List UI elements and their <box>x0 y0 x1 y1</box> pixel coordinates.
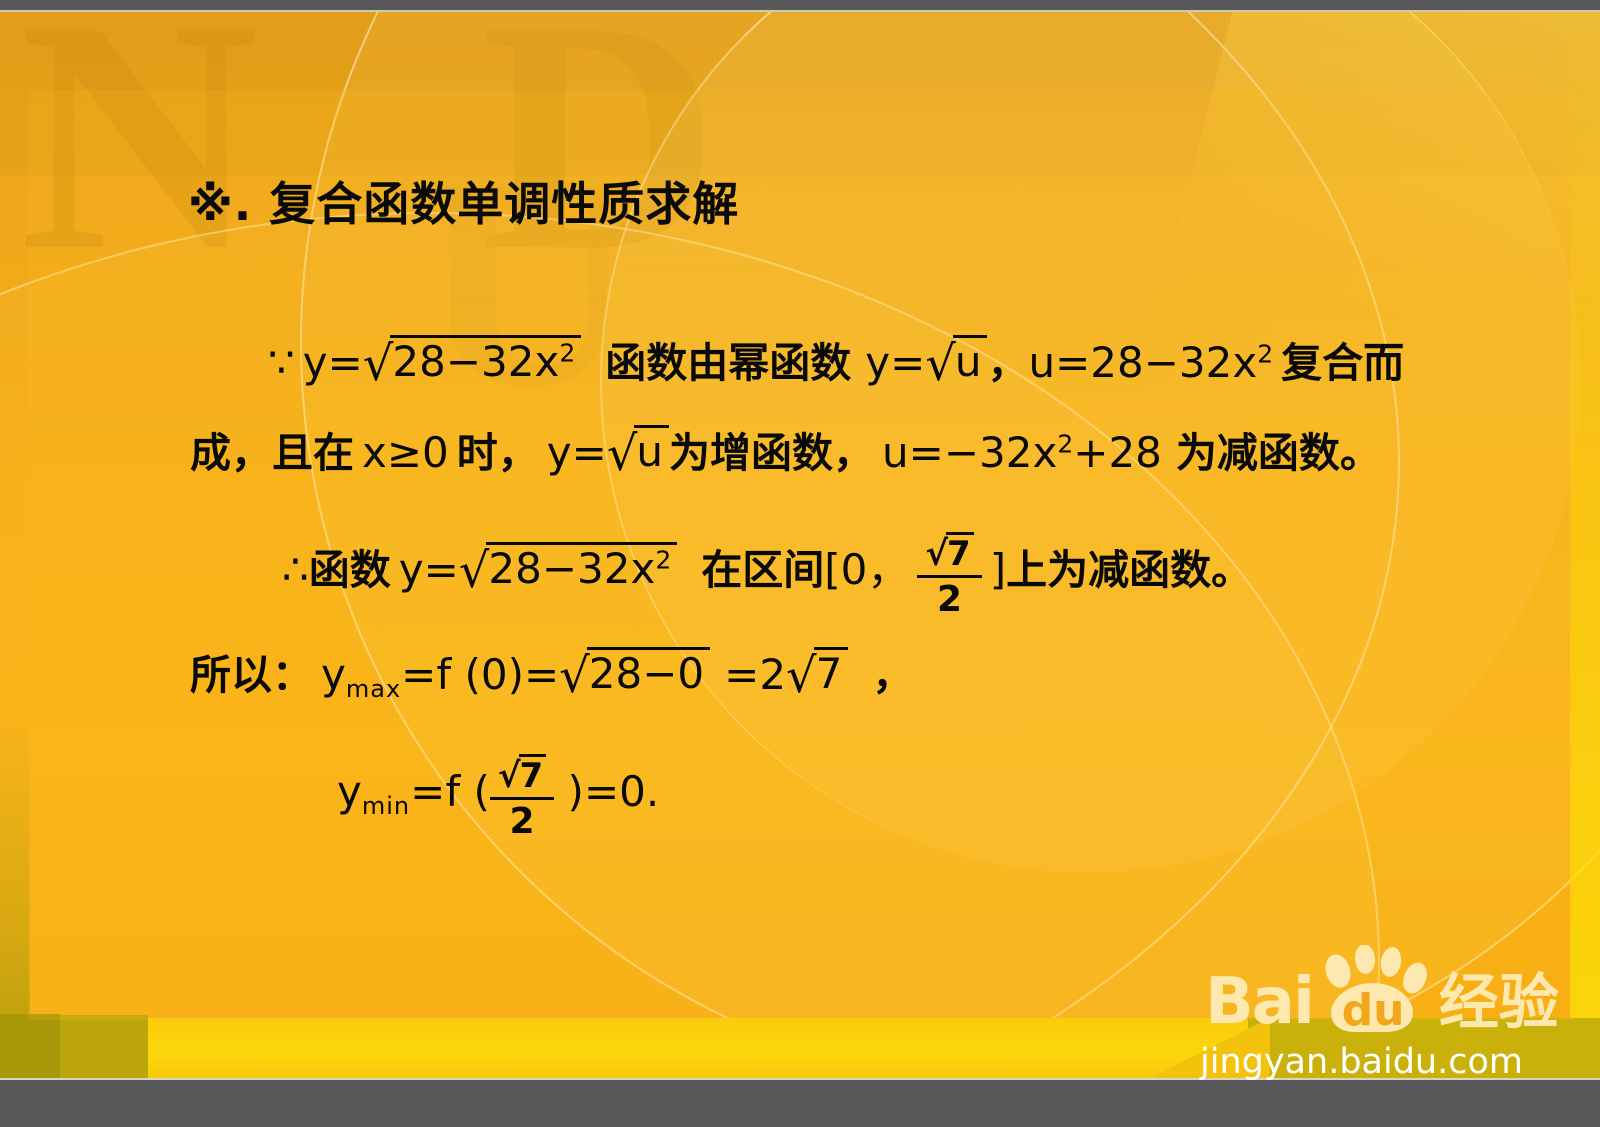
line3-sqrt-sign-icon: √ <box>925 537 948 571</box>
line5-eq: =f ( <box>410 767 490 816</box>
line4-eq-2: =2 <box>724 650 786 699</box>
line1-y-eq-2: y= <box>865 338 925 387</box>
line2-exponent: 2 <box>1057 429 1073 458</box>
line2-cn-3: 为增函数， <box>669 429 874 477</box>
line5-fraction-sqrt7-over-2: √72 <box>490 754 554 841</box>
window-bottom-bar <box>0 1078 1600 1127</box>
baidu-watermark-logo: Bai du 经验 <box>1205 945 1559 1033</box>
line3-radical: √28−32x2 <box>459 543 677 592</box>
line1-lead: ∵ <box>268 338 295 387</box>
line5-close: )=0. <box>554 767 659 816</box>
line3-y-eq: y= <box>399 545 459 594</box>
line1-radical-1: √28−32x2 <box>363 336 581 385</box>
line3-radicand: 28−32x <box>488 544 655 593</box>
line2-cn-1: 成，且在 <box>190 429 354 477</box>
baidu-watermark-url: jingyan.baidu.com <box>1200 1042 1523 1082</box>
line1-y-eq: y= <box>303 338 363 387</box>
line1-cn-1: 函数由幂函数 <box>605 339 851 387</box>
line2-radical: √u <box>607 426 669 475</box>
math-line-4: 所以：ymax=f (0)=√28−0=2√7， <box>190 648 913 697</box>
radical-sign-icon: √ <box>925 340 956 388</box>
radical-sign-icon: √ <box>363 340 394 388</box>
line1-exponent-2: 2 <box>1257 339 1273 368</box>
paw-print-icon: du <box>1321 945 1429 1033</box>
radical-sign-icon: √ <box>607 430 638 478</box>
line3-exponent: 2 <box>655 545 671 574</box>
line2-y-eq: y= <box>547 428 607 477</box>
line3-cn-1: 函数 <box>309 546 391 594</box>
radical-sign-icon: √ <box>786 652 817 700</box>
line3-bracket-open: [0， <box>824 545 909 594</box>
window-top-bar <box>0 0 1600 12</box>
math-line-1: ∵y=√28−32x2函数由幂函数y=√u，u=28−32x2复合而 <box>268 336 1404 385</box>
slide-canvas: N D U ※. 复合函数单调性质求解 ∵y=√28−32x2函数由幂函数y=√… <box>0 0 1600 1127</box>
line1-exponent-1: 2 <box>559 338 575 367</box>
line2-cn-4: 为减函数。 <box>1176 429 1381 477</box>
line2-condition: x≥0 <box>362 428 449 477</box>
line4-radical-2: √7 <box>786 648 848 697</box>
line3-frac-denominator: 2 <box>917 578 981 620</box>
line5-frac-numerator: 7 <box>519 754 547 793</box>
line5-frac-denominator: 2 <box>490 800 554 842</box>
line4-sqrt7: 7 <box>816 649 843 698</box>
line1-radicand-1: 28−32x <box>392 337 559 386</box>
line3-cn-3: 上为减函数。 <box>1006 546 1252 594</box>
line1-u-eq: u=28−32x <box>1028 338 1257 387</box>
baidu-brand-cn: 经验 <box>1439 973 1559 1033</box>
line3-frac-numerator: 7 <box>946 532 974 571</box>
math-line-3: ∴函数y=√28−32x2在区间[0，√72]上为减函数。 <box>282 530 1252 617</box>
line5-subscript-min: min <box>362 792 410 820</box>
line1-cn-2: 复合而 <box>1281 339 1404 387</box>
line4-cn-1: 所以： <box>190 651 313 699</box>
line3-bracket-close: ] <box>990 545 1006 594</box>
radical-sign-icon: √ <box>459 547 490 595</box>
math-line-5: ymin=f (√72 )=0. <box>337 752 659 839</box>
line1-radicand-2: u <box>955 337 982 386</box>
line4-eq: =f (0)= <box>401 650 559 699</box>
baidu-brand-bai: Bai <box>1205 972 1313 1033</box>
line4-radicand: 28−0 <box>589 649 704 698</box>
line2-u-tail: +28 <box>1073 428 1162 477</box>
line3-lead: ∴ <box>282 545 309 594</box>
line2-radicand: u <box>636 427 663 476</box>
baidu-brand-du: du <box>1341 985 1404 1033</box>
line4-comma: ， <box>872 651 913 699</box>
line3-cn-2: 在区间 <box>701 546 824 594</box>
math-line-2: 成，且在x≥0时，y=√u为增函数，u=−32x2+28为减函数。 <box>190 426 1381 475</box>
line2-u-eq: u=−32x <box>882 428 1057 477</box>
line4-radical: √28−0 <box>559 648 710 697</box>
line1-comma: ， <box>987 339 1028 387</box>
line5-sqrt-sign-icon: √ <box>498 759 521 793</box>
line5-y: y <box>337 767 362 816</box>
line1-radical-2: √u <box>925 336 987 385</box>
line3-fraction-sqrt7-over-2: √72 <box>917 532 981 619</box>
line2-cn-2: 时， <box>457 429 539 477</box>
line4-subscript-max: max <box>346 675 401 703</box>
radical-sign-icon: √ <box>559 652 590 700</box>
line4-y: y <box>321 650 346 699</box>
